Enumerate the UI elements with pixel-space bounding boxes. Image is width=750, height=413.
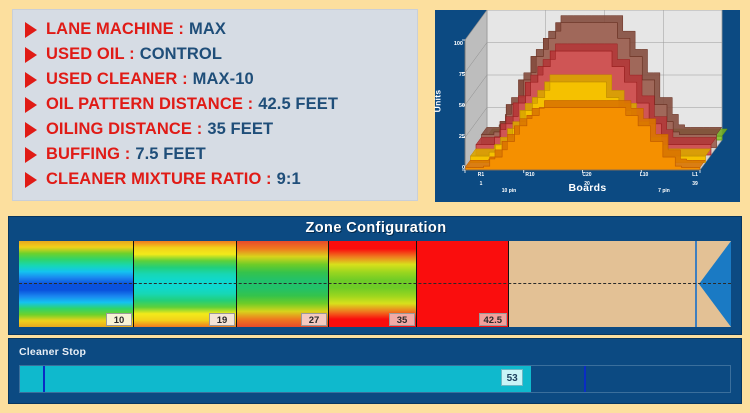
chart-y-tick: 50 [449,103,465,109]
zone-4[interactable]: 35 [329,241,417,327]
zone-2[interactable]: 19 [134,241,237,327]
chart-x-tick: C20 [575,172,599,178]
cleaner-stop-fill [20,366,531,392]
info-label: OIL PATTERN DISTANCE : [46,95,253,114]
info-label: USED CLEANER : [46,70,188,89]
info-label: OILING DISTANCE : [46,120,202,139]
bullet-triangle-icon [25,97,37,113]
cleaner-stop-value-badge: 53 [501,369,523,386]
chart-y-axis-title: Units [432,90,442,113]
zone-value-badge: 19 [209,313,235,326]
top-row: LANE MACHINE : MAX USED OIL : CONTROL US… [0,0,750,212]
lane-direction-arrow-area [697,241,731,327]
info-row: LANE MACHINE : MAX [13,17,417,42]
chart-y-tick: 100 [447,41,463,47]
lane-remainder-area [509,241,695,327]
bullet-triangle-icon [25,122,37,138]
chart-annotation-10-pin: 10 pin [492,188,526,194]
cleaner-stop-tick-2[interactable] [584,366,586,392]
info-value: 35 FEET [207,120,273,139]
zone-configuration-panel: Zone Configuration 1019273542.5 [8,216,742,335]
info-value: 7.5 FEET [135,145,206,164]
chart-canvas: Units Boards 0 25 50 75 100 R1 R10 C20 L… [435,10,740,202]
chart-annotation-7-pin: 7 pin [647,188,681,194]
cleaner-stop-panel: Cleaner Stop 53 [8,338,742,404]
zone-value-badge: 27 [301,313,327,326]
info-value: CONTROL [140,45,222,64]
info-row: USED OIL : CONTROL [13,42,417,67]
zone-value-badge: 42.5 [479,313,508,326]
info-label: BUFFING : [46,145,130,164]
info-label: LANE MACHINE : [46,20,184,39]
bullet-triangle-icon [25,47,37,63]
chart-x-tick: L1 [685,172,705,178]
info-value: 9:1 [277,170,301,189]
info-row: USED CLEANER : MAX-10 [13,67,417,92]
info-row: OIL PATTERN DISTANCE : 42.5 FEET [13,92,417,117]
chart-y-tick: 0 [449,165,465,171]
chart-x-tick: L10 [632,172,656,178]
cleaner-stop-slider[interactable]: 53 [19,365,731,393]
zone-value-badge: 35 [389,313,415,326]
info-value: 42.5 FEET [258,95,338,114]
left-triangle-icon [699,241,731,327]
chart-x-subtick: 1 [471,181,491,187]
cleaner-stop-label: Cleaner Stop [19,346,86,358]
bullet-triangle-icon [25,172,37,188]
zone-centerline [19,283,731,284]
info-label: CLEANER MIXTURE RATIO : [46,170,272,189]
chart-y-tick: 25 [449,134,465,140]
zone-value-badge: 10 [106,313,132,326]
info-value: MAX [189,20,226,39]
bullet-triangle-icon [25,22,37,38]
chart-x-subtick: 39 [685,181,705,187]
info-row: CLEANER MIXTURE RATIO : 9:1 [13,167,417,192]
info-value: MAX-10 [193,70,254,89]
bullet-triangle-icon [25,72,37,88]
zone-3[interactable]: 27 [237,241,329,327]
cleaner-stop-tick-1[interactable] [43,366,45,392]
chart-x-subtick: 20 [575,181,599,187]
oil-pattern-3d-chart-panel: Units Boards 0 25 50 75 100 R1 R10 C20 L… [435,10,740,202]
zone-1[interactable]: 10 [19,241,134,327]
chart-x-tick: R1 [471,172,491,178]
chart-x-tick: R10 [520,172,540,178]
info-row: OILING DISTANCE : 35 FEET [13,117,417,142]
bullet-triangle-icon [25,147,37,163]
zone-strip[interactable]: 1019273542.5 [19,241,731,327]
lane-info-panel: LANE MACHINE : MAX USED OIL : CONTROL US… [12,9,418,201]
chart-y-tick: 75 [449,72,465,78]
zone-5[interactable]: 42.5 [417,241,509,327]
info-row: BUFFING : 7.5 FEET [13,142,417,167]
zone-configuration-title: Zone Configuration [9,220,743,236]
info-label: USED OIL : [46,45,135,64]
